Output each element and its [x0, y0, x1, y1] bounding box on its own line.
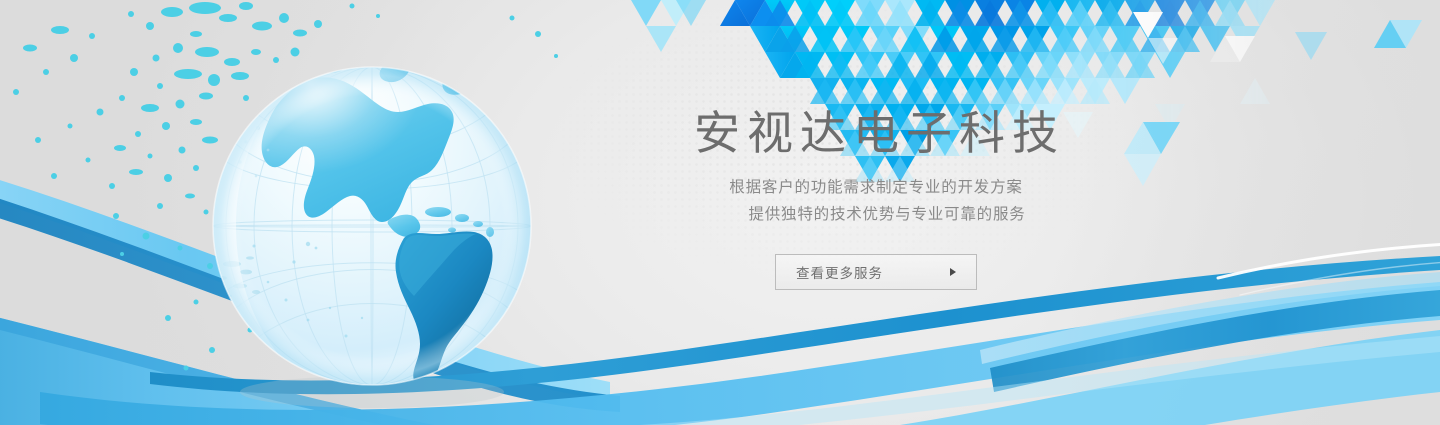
- play-triangle-right-icon: [950, 268, 956, 276]
- subtitle-line-1: 根据客户的功能需求制定专业的开发方案: [596, 174, 1156, 201]
- cta-label: 查看更多服务: [796, 262, 950, 282]
- view-more-services-button[interactable]: 查看更多服务: [775, 254, 977, 290]
- hero-copy-block: 安视达电子科技 根据客户的功能需求制定专业的开发方案 提供独特的技术优势与专业可…: [596, 106, 1156, 290]
- subtitle-line-2: 提供独特的技术优势与专业可靠的服务: [596, 201, 1156, 228]
- hero-banner: 安视达电子科技 根据客户的功能需求制定专业的开发方案 提供独特的技术优势与专业可…: [0, 0, 1440, 425]
- cta-container: 查看更多服务: [596, 254, 1156, 290]
- page-title: 安视达电子科技: [596, 106, 1156, 160]
